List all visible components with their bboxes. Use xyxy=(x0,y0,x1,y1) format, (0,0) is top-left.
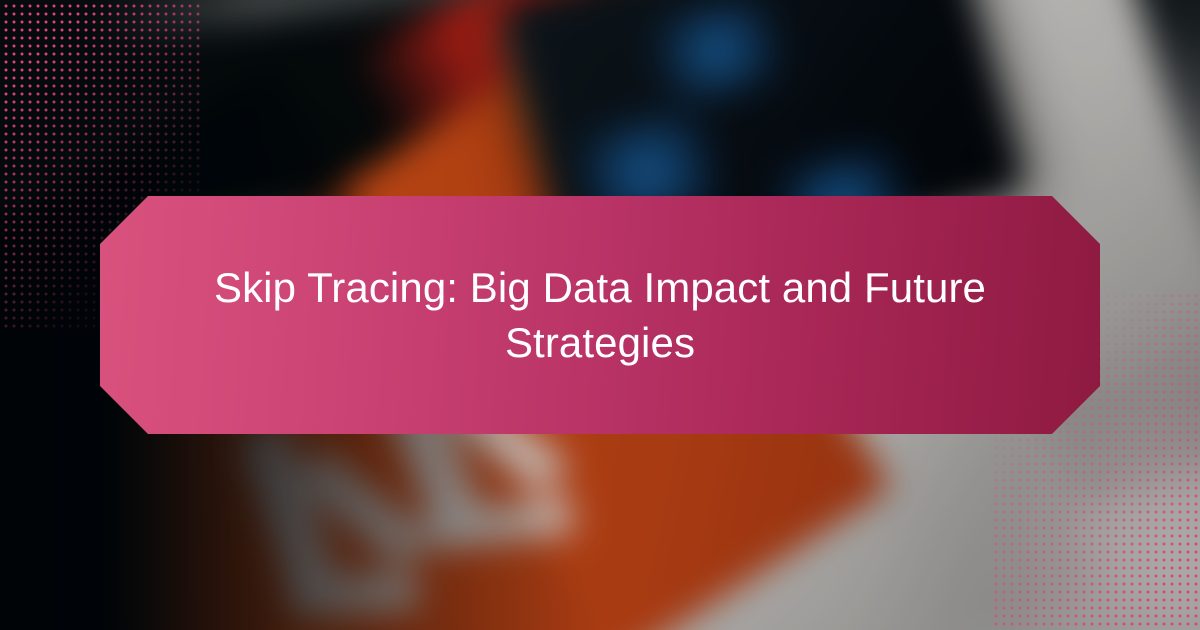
title-banner: Skip Tracing: Big Data Impact and Future… xyxy=(100,196,1100,434)
page-title: Skip Tracing: Big Data Impact and Future… xyxy=(210,260,990,371)
social-card: Skip Tracing: Big Data Impact and Future… xyxy=(0,0,1200,630)
